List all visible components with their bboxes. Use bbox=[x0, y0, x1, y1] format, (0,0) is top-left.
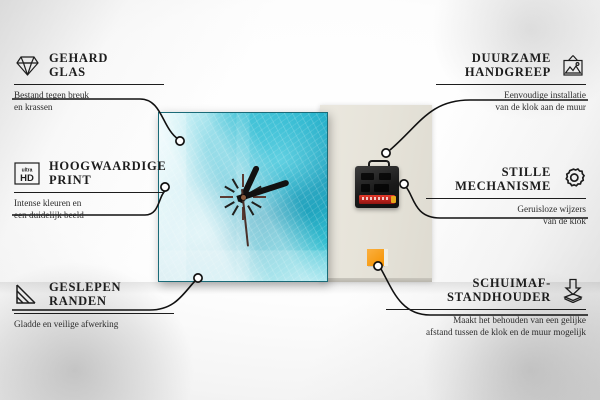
framed-picture-hook-icon bbox=[560, 53, 586, 79]
clock-center-hub bbox=[241, 195, 246, 200]
diamond-icon bbox=[14, 53, 40, 79]
callout-description: Gladde en veilige afwerking bbox=[14, 319, 174, 331]
callout-description: Eenvoudige installatie van de klok aan d… bbox=[436, 90, 586, 113]
foam-spacer-pad-side bbox=[384, 249, 388, 266]
callout-hoogwaardige-print: ultra HD HOOGWAARDIGE PRINT Intense kleu… bbox=[14, 160, 164, 221]
quartz-movement bbox=[355, 166, 399, 208]
press-down-pad-icon bbox=[560, 278, 586, 304]
ultra-hd-icon: ultra HD bbox=[14, 161, 40, 187]
callout-stille-mechanisme: STILLE MECHANISME Geruisloze wijzers van… bbox=[426, 166, 586, 227]
clock-tick bbox=[220, 196, 233, 198]
callout-description: Bestand tegen breuk en krassen bbox=[14, 90, 164, 113]
callout-geslepen-randen: GESLEPEN RANDEN Gladde en veilige afwerk… bbox=[14, 281, 174, 331]
battery-positive-terminal bbox=[391, 196, 396, 203]
foam-spacer-pad bbox=[367, 249, 384, 266]
callout-description: Intense kleuren en een duidelijk beeld bbox=[14, 198, 164, 221]
product-image bbox=[138, 100, 438, 290]
clock-tick bbox=[253, 196, 266, 198]
movement-detail-a bbox=[361, 173, 374, 180]
callout-divider bbox=[14, 313, 174, 314]
callout-title: DUURZAME HANDGREEP bbox=[465, 52, 551, 79]
callout-title: GESLEPEN RANDEN bbox=[49, 281, 121, 308]
clock-tick bbox=[242, 174, 244, 187]
callout-divider bbox=[14, 192, 164, 193]
callout-gehard-glas: GEHARD GLAS Bestand tegen breuk en krass… bbox=[14, 52, 164, 113]
movement-detail-d bbox=[374, 184, 389, 192]
callout-divider bbox=[436, 84, 586, 85]
battery-label bbox=[362, 197, 388, 200]
callout-duurzame-handgreep: DUURZAME HANDGREEP Eenvoudige installati… bbox=[436, 52, 586, 113]
movement-detail-c bbox=[361, 184, 370, 192]
infographic-canvas: GEHARD GLAS Bestand tegen breuk en krass… bbox=[0, 0, 600, 400]
callout-divider bbox=[386, 309, 586, 310]
movement-detail-b bbox=[379, 173, 391, 180]
callout-divider bbox=[426, 198, 586, 199]
callout-title: HOOGWAARDIGE PRINT bbox=[49, 160, 166, 187]
callout-schuimafstandhouder: SCHUIMAF- STANDHOUDER Maakt het behouden… bbox=[386, 277, 586, 338]
callout-divider bbox=[14, 84, 164, 85]
callout-description: Geruisloze wijzers van de klok bbox=[426, 204, 586, 227]
callout-title: GEHARD GLAS bbox=[49, 52, 108, 79]
gear-icon bbox=[560, 167, 586, 193]
callout-title: STILLE MECHANISME bbox=[455, 166, 551, 193]
svg-text:HD: HD bbox=[20, 173, 34, 184]
callout-title: SCHUIMAF- STANDHOUDER bbox=[447, 277, 551, 304]
beveled-edges-icon bbox=[14, 282, 40, 308]
battery bbox=[359, 195, 395, 204]
callout-description: Maakt het behouden van een gelijke afsta… bbox=[386, 315, 586, 338]
clock-face bbox=[158, 112, 328, 282]
